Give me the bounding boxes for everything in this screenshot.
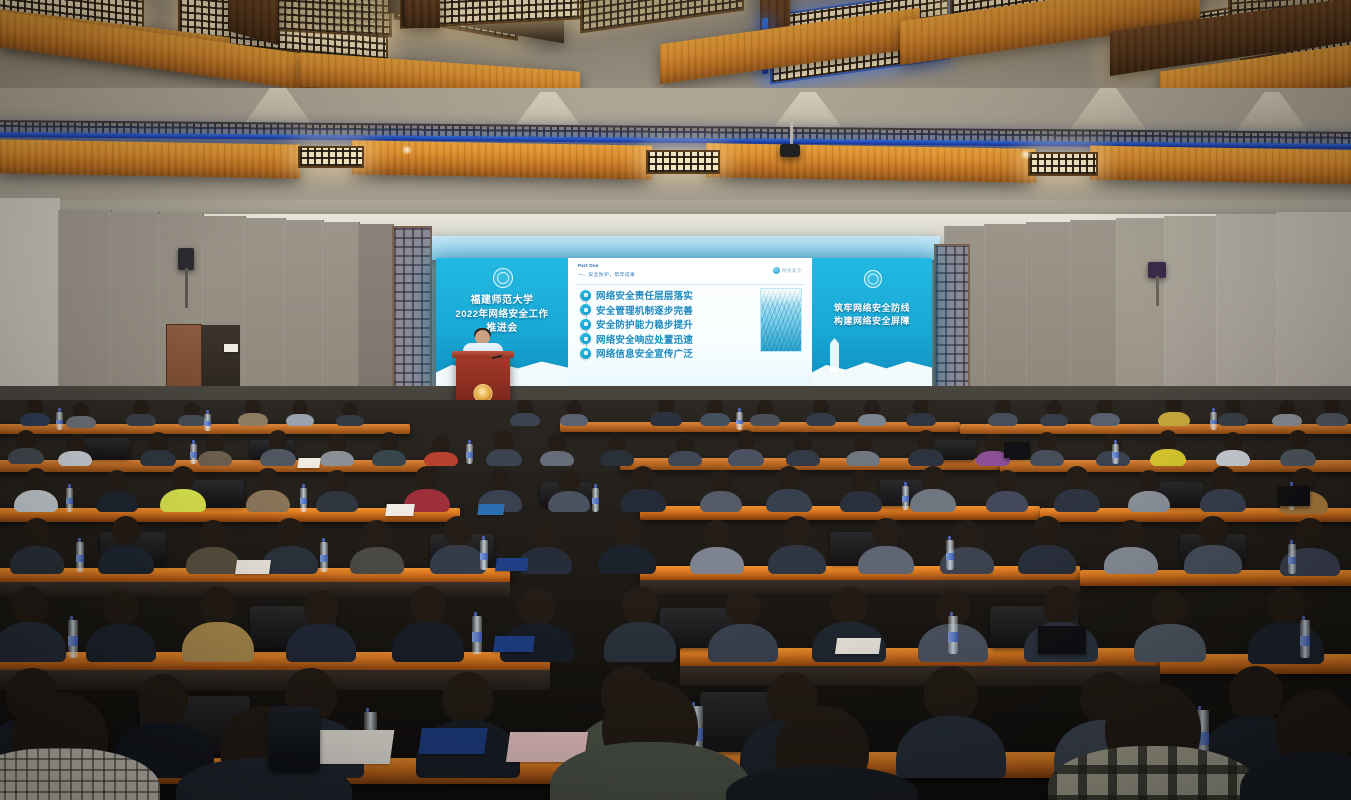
- attendee: [1054, 466, 1100, 512]
- attendee: [246, 468, 290, 512]
- rounded-square-bullet-icon: [580, 319, 591, 330]
- slide-subtitle: 一、安全防护，筑牢成果: [578, 271, 635, 278]
- attendee: [1216, 432, 1250, 466]
- attendee-foreground: [1048, 682, 1258, 800]
- ceiling: [0, 0, 1351, 215]
- ceiling-lattice-panel: [1028, 152, 1098, 176]
- slide-logo: 网络安全: [773, 267, 802, 274]
- attendee: [600, 432, 634, 466]
- attendee: [96, 470, 138, 512]
- audience-area: [0, 400, 1351, 800]
- attendee: [1158, 400, 1190, 426]
- slide-bullet-list: 网络安全责任层层落实 安全管理机制逐步完善 安全防护能力稳步提升 网络安全响应处…: [580, 288, 693, 361]
- attendee-foreground: [726, 706, 918, 800]
- podium-top: [452, 351, 514, 358]
- ceiling-lattice-panel: [298, 146, 364, 168]
- attendee: [1128, 470, 1170, 512]
- attendee: [286, 400, 314, 426]
- slide-header: Part One 一、安全防护，筑牢成果 网络安全: [576, 262, 804, 285]
- attendee: [700, 470, 742, 512]
- university-crest-icon: [864, 270, 882, 288]
- attendee: [392, 586, 464, 662]
- led-presentation-screen: 福建师范大学 2022年网络安全工作 推进会 Part One 一、安全防护，筑…: [436, 258, 932, 386]
- laptop: [1278, 486, 1310, 506]
- attendee: [416, 672, 520, 778]
- attendee: [198, 434, 232, 466]
- attendee: [86, 590, 156, 662]
- attendee: [750, 400, 780, 426]
- attendee: [540, 434, 574, 466]
- handout-paper: [385, 504, 415, 516]
- attendee: [1030, 432, 1064, 466]
- rounded-square-bullet-icon: [580, 304, 591, 315]
- handout-folder: [493, 636, 535, 652]
- handout-folder: [495, 558, 529, 571]
- list-item: 网络安全责任层层落实: [580, 288, 693, 303]
- right-banner-line1: 筑牢网络安全防线: [812, 302, 932, 315]
- attendee-foreground: [1240, 690, 1351, 800]
- attendee: [786, 432, 820, 466]
- attendee: [178, 402, 206, 426]
- speaker-mount-rod: [185, 268, 188, 308]
- slide-cityscape-image: [760, 288, 802, 352]
- right-banner-line2: 构建网络安全屏障: [812, 315, 932, 328]
- attendee: [1218, 400, 1248, 426]
- attendee: [8, 430, 44, 464]
- attendee: [260, 430, 296, 466]
- handout-folder: [477, 504, 505, 515]
- attendee: [430, 516, 486, 574]
- bullet-text: 安全防护能力稳步提升: [596, 317, 693, 331]
- attendee: [126, 400, 156, 426]
- list-item: 安全防护能力稳步提升: [580, 317, 693, 332]
- bullet-text: 安全管理机制逐步完善: [596, 303, 693, 317]
- attendee: [510, 400, 540, 426]
- left-banner-line2: 2022年网络安全工作: [436, 308, 568, 322]
- attendee: [1200, 466, 1246, 512]
- ceiling-wood-beam: [404, 0, 440, 28]
- attendee: [10, 518, 64, 574]
- speaker-mount-rod: [1156, 276, 1159, 306]
- rounded-square-bullet-icon: [580, 290, 591, 301]
- attendee: [0, 586, 66, 662]
- attendee-foreground: [0, 692, 160, 800]
- ceiling-wood-beam: [1090, 146, 1351, 185]
- attendee: [858, 518, 914, 574]
- attendee: [768, 516, 826, 574]
- attendee: [486, 430, 522, 466]
- handout-folder: [418, 728, 488, 754]
- attendee: [372, 432, 406, 466]
- attendee: [316, 470, 358, 512]
- attendee: [728, 430, 764, 466]
- laptop: [1004, 442, 1030, 458]
- slide-content-area: Part One 一、安全防护，筑牢成果 网络安全 网络安全责任层层落实 安全管…: [568, 258, 812, 386]
- attendee-foreground: [550, 680, 750, 800]
- slide-part-label: Part One: [578, 263, 599, 268]
- attendee: [1150, 430, 1186, 466]
- handout-paper: [835, 638, 881, 654]
- list-item: 网络安全响应处置迅速: [580, 332, 693, 347]
- shield-dot-icon: [773, 267, 780, 274]
- attendee: [1184, 516, 1242, 574]
- attendee: [766, 466, 812, 512]
- projector-mount-rod: [790, 122, 793, 146]
- attendee: [604, 586, 676, 662]
- attendee: [560, 400, 588, 426]
- attendee: [1104, 520, 1158, 574]
- list-item: 安全管理机制逐步完善: [580, 303, 693, 318]
- attendee: [320, 434, 354, 466]
- attendee: [160, 466, 206, 512]
- attendee: [690, 520, 744, 574]
- bullet-text: 网络安全责任层层落实: [596, 288, 693, 302]
- attendee: [986, 470, 1028, 512]
- attendee: [1040, 400, 1068, 426]
- attendee: [598, 516, 656, 574]
- attendee: [858, 400, 886, 426]
- attendee: [910, 466, 956, 512]
- rounded-square-bullet-icon: [580, 348, 591, 359]
- backpack: [268, 706, 320, 772]
- attendee: [700, 400, 730, 426]
- attendee: [908, 430, 944, 466]
- ceiling-wood-beam: [0, 139, 300, 178]
- conference-hall-photo: 福建师范大学 2022年网络安全工作 推进会 Part One 一、安全防护，筑…: [0, 0, 1351, 800]
- attendee: [98, 516, 154, 574]
- attendee: [668, 434, 702, 466]
- attendee: [66, 402, 96, 428]
- attendee: [708, 590, 778, 662]
- ceiling-wood-beam: [352, 140, 652, 179]
- attendee: [1090, 400, 1120, 426]
- door-sign: [224, 344, 238, 352]
- handout-paper: [297, 458, 320, 468]
- attendee: [846, 434, 880, 466]
- left-banner-line1: 福建师范大学: [436, 294, 568, 309]
- list-item: 网络信息安全宣传广泛: [580, 346, 693, 361]
- bullet-text: 网络信息安全宣传广泛: [596, 346, 693, 360]
- attendee: [1248, 586, 1324, 664]
- attendee-foreground: [176, 706, 352, 800]
- attendee: [58, 434, 92, 466]
- attendee: [650, 400, 682, 426]
- soffit-glow-over-screen: [430, 236, 940, 260]
- attendee: [424, 436, 458, 466]
- attendee: [14, 468, 58, 512]
- attendee: [1316, 400, 1348, 426]
- bullet-text: 网络安全响应处置迅速: [596, 332, 693, 346]
- handout-paper: [235, 560, 271, 574]
- attendee: [806, 400, 836, 426]
- attendee: [336, 402, 364, 426]
- led-right-banner: 筑牢网络安全防线 构建网络安全屏障: [812, 258, 932, 386]
- attendee: [988, 400, 1018, 426]
- attendee: [140, 432, 176, 466]
- attendee: [548, 470, 590, 512]
- attendee: [1280, 430, 1316, 466]
- attendee: [1018, 516, 1076, 574]
- ceiling-wood-beam: [706, 143, 1036, 183]
- attendee: [238, 400, 268, 426]
- ceiling-projector-icon: [780, 144, 800, 157]
- rounded-square-bullet-icon: [580, 333, 591, 344]
- attendee: [186, 520, 240, 574]
- attendee: [262, 518, 318, 574]
- attendee: [286, 590, 356, 662]
- attendee: [1272, 400, 1302, 426]
- attendee: [20, 400, 50, 426]
- slide-logo-label: 网络安全: [782, 268, 802, 274]
- attendee: [182, 586, 254, 662]
- attendee: [906, 400, 936, 426]
- attendee: [1134, 590, 1206, 662]
- attendee: [350, 520, 404, 574]
- attendee: [840, 470, 882, 512]
- attendee: [620, 466, 666, 512]
- wall-speaker-icon: [178, 248, 194, 270]
- laptop: [1038, 626, 1086, 654]
- university-crest-icon: [493, 268, 513, 288]
- ceiling-lattice-panel: [646, 150, 720, 174]
- ceiling-lattice-panel: [268, 0, 392, 37]
